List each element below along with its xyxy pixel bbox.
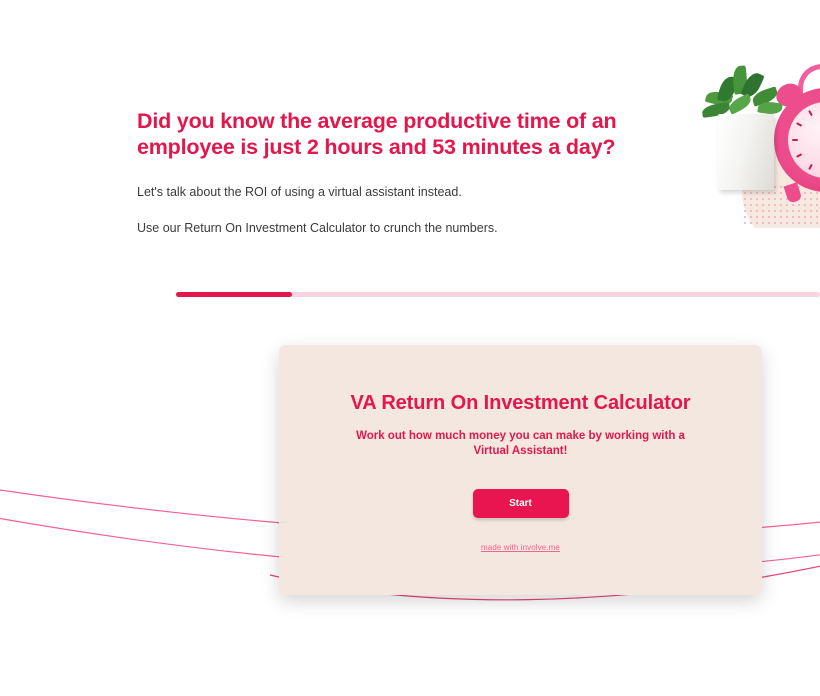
plant-pot <box>718 114 774 190</box>
calculator-card: VA Return On Investment Calculator Work … <box>279 345 762 595</box>
progress-bar-fill <box>176 292 292 297</box>
hero-paragraph-1: Let's talk about the ROI of using a virt… <box>137 184 657 201</box>
page-title: Did you know the average productive time… <box>137 108 657 160</box>
made-with-involve-me-link[interactable]: made with involve.me <box>279 543 762 552</box>
decorative-image <box>700 58 820 228</box>
dot-grid-pattern-icon <box>742 184 820 228</box>
hero-section: Did you know the average productive time… <box>137 108 657 237</box>
start-button[interactable]: Start <box>473 489 569 518</box>
hero-paragraph-2: Use our Return On Investment Calculator … <box>137 220 657 237</box>
progress-bar-track <box>176 292 820 297</box>
card-subtitle: Work out how much money you can make by … <box>341 429 701 458</box>
card-title: VA Return On Investment Calculator <box>279 345 762 415</box>
